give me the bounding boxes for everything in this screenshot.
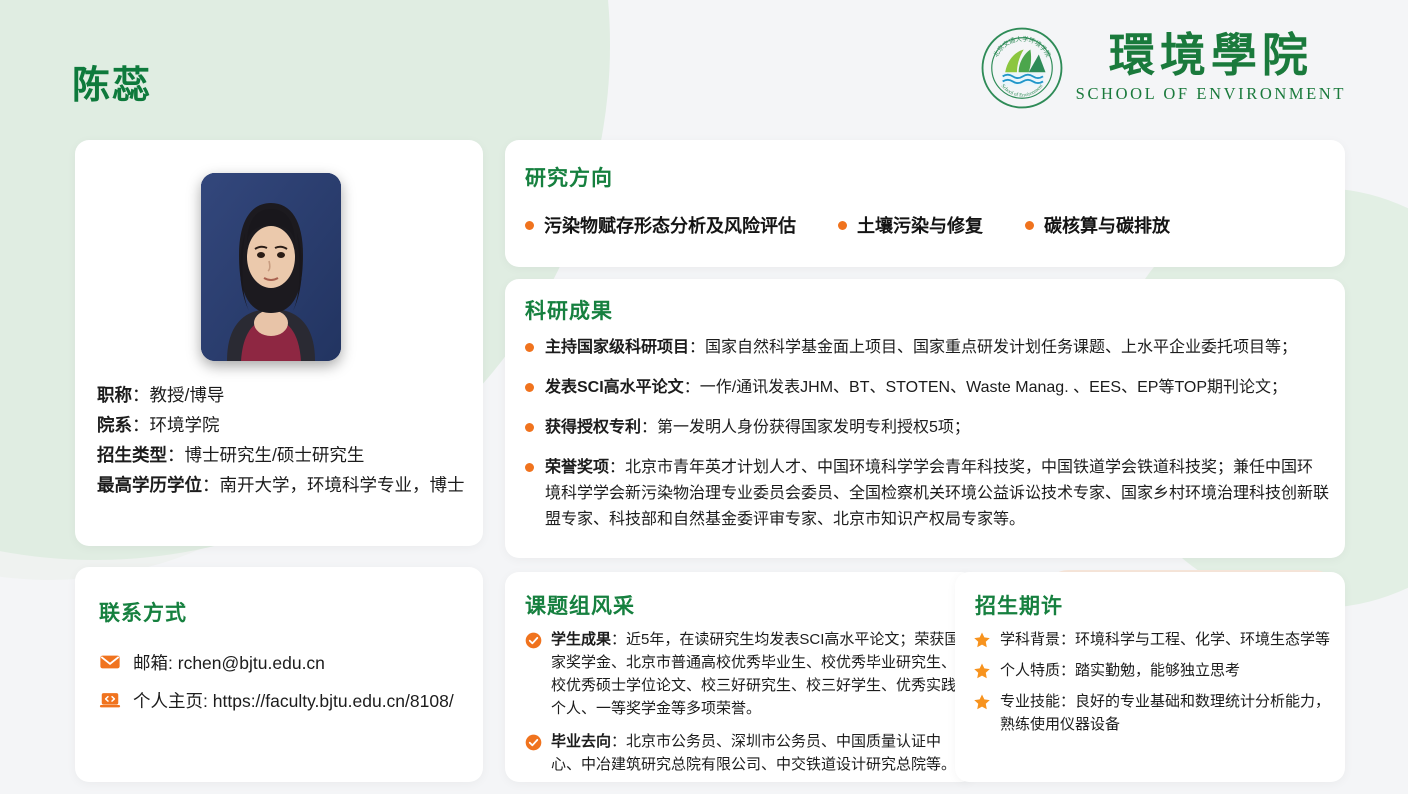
profile-field-admission-type: 招生类型：博士研究生/硕士研究生 xyxy=(97,440,469,470)
homepage-icon xyxy=(99,689,121,711)
profile-card: 职称：教授/博导 院系：环境学院 招生类型：博士研究生/硕士研究生 最高学历学位… xyxy=(75,140,483,546)
portrait-photo xyxy=(201,173,341,361)
contact-section-title: 联系方式 xyxy=(99,597,187,627)
star-icon xyxy=(973,662,991,680)
team-card: 课题组风采 学生成果：近5年，在读研究生均发表SCI高水平论文；荣获国家奖学金、… xyxy=(505,572,975,782)
admission-list: 学科背景：环境科学与工程、化学、环境生态学等 个人特质：踏实勤勉，能够独立思考 … xyxy=(973,628,1333,744)
achievement-text: 荣誉奖项：北京市青年英才计划人才、中国环境科学学会青年科技奖，中国铁道学会铁道科… xyxy=(545,455,1329,533)
homepage-text: 个人主页: https://faculty.bjtu.edu.cn/8108/ xyxy=(133,688,454,713)
achievement-item: 主持国家级科研项目：国家自然科学基金面上项目、国家重点研发计划任务课题、上水平企… xyxy=(525,335,1329,361)
research-direction-item: 污染物赋存形态分析及风险评估 xyxy=(525,212,796,238)
bullet-dot-icon xyxy=(525,221,534,230)
email-icon xyxy=(99,651,121,673)
page-title: 陈蕊 xyxy=(72,54,152,109)
admission-item: 个人特质：踏实勤勉，能够独立思考 xyxy=(973,659,1333,682)
research-directions-list: 污染物赋存形态分析及风险评估 土壤污染与修复 碳核算与碳排放 xyxy=(525,212,1212,238)
research-direction-label: 污染物赋存形态分析及风险评估 xyxy=(544,212,796,238)
logo-english-name: SCHOOL OF ENVIRONMENT xyxy=(1076,84,1346,104)
research-direction-label: 碳核算与碳排放 xyxy=(1044,212,1170,238)
achievement-text: 发表SCI高水平论文：一作/通讯发表JHM、BT、STOTEN、Waste Ma… xyxy=(545,375,1287,401)
logo-wordmark: 環境學院 SCHOOL OF ENVIRONMENT xyxy=(1076,32,1346,103)
logo-chinese-name: 環境學院 xyxy=(1109,32,1313,80)
profile-field-education: 最高学历学位：南开大学，环境科学专业，博士 xyxy=(97,470,469,500)
achievement-item: 获得授权专利：第一发明人身份获得国家发明专利授权5项； xyxy=(525,415,1329,441)
profile-field-department: 院系：环境学院 xyxy=(97,410,469,440)
profile-fields: 职称：教授/博导 院系：环境学院 招生类型：博士研究生/硕士研究生 最高学历学位… xyxy=(97,380,469,500)
school-logo: 北京交通大学环境学院 School of Environment 環境學院 SC… xyxy=(980,26,1346,110)
check-circle-icon xyxy=(525,734,542,751)
team-item-text: 毕业去向：北京市公务员、深圳市公务员、中国质量认证中心、中冶建筑研究总院有限公司… xyxy=(551,730,963,776)
research-direction-label: 土壤污染与修复 xyxy=(857,212,983,238)
school-seal-icon: 北京交通大学环境学院 School of Environment xyxy=(980,26,1064,110)
avatar xyxy=(201,173,341,361)
team-list: 学生成果：近5年，在读研究生均发表SCI高水平论文；荣获国家奖学金、北京市普通高… xyxy=(525,628,963,786)
star-icon xyxy=(973,631,991,649)
research-direction-item: 土壤污染与修复 xyxy=(838,212,983,238)
profile-field-title: 职称：教授/博导 xyxy=(97,380,469,410)
achievements-card: 科研成果 主持国家级科研项目：国家自然科学基金面上项目、国家重点研发计划任务课题… xyxy=(505,279,1345,558)
achievement-text: 获得授权专利：第一发明人身份获得国家发明专利授权5项； xyxy=(545,415,970,441)
contact-item-email[interactable]: 邮箱: rchen@bjtu.edu.cn xyxy=(99,643,473,681)
team-item-text: 学生成果：近5年，在读研究生均发表SCI高水平论文；荣获国家奖学金、北京市普通高… xyxy=(551,628,963,720)
admission-item: 专业技能：良好的专业基础和数理统计分析能力，熟练使用仪器设备 xyxy=(973,690,1333,736)
admission-item-text: 专业技能：良好的专业基础和数理统计分析能力，熟练使用仪器设备 xyxy=(1000,690,1333,736)
contact-list: 邮箱: rchen@bjtu.edu.cn 个人主页: https://facu… xyxy=(99,643,473,719)
email-text: 邮箱: rchen@bjtu.edu.cn xyxy=(133,650,325,675)
star-icon xyxy=(973,693,991,711)
research-directions-card: 研究方向 污染物赋存形态分析及风险评估 土壤污染与修复 碳核算与碳排放 xyxy=(505,140,1345,267)
team-item: 毕业去向：北京市公务员、深圳市公务员、中国质量认证中心、中冶建筑研究总院有限公司… xyxy=(525,730,963,776)
achievement-item: 荣誉奖项：北京市青年英才计划人才、中国环境科学学会青年科技奖，中国铁道学会铁道科… xyxy=(525,455,1329,533)
team-title: 课题组风采 xyxy=(525,590,635,620)
bullet-dot-icon xyxy=(525,383,534,392)
research-direction-item: 碳核算与碳排放 xyxy=(1025,212,1170,238)
bullet-dot-icon xyxy=(838,221,847,230)
contact-item-homepage[interactable]: 个人主页: https://faculty.bjtu.edu.cn/8108/ xyxy=(99,681,473,719)
contact-card: 联系方式 邮箱: rchen@bjtu.edu.cn 个人主页: https:/… xyxy=(75,567,483,782)
achievements-list: 主持国家级科研项目：国家自然科学基金面上项目、国家重点研发计划任务课题、上水平企… xyxy=(525,335,1329,533)
bullet-dot-icon xyxy=(525,423,534,432)
admission-item-text: 个人特质：踏实勤勉，能够独立思考 xyxy=(1000,659,1240,682)
bullet-dot-icon xyxy=(1025,221,1034,230)
page-header: 陈蕊 北京交通大学环境学院 School of Environment xyxy=(0,0,1408,132)
check-circle-icon xyxy=(525,632,542,649)
team-item: 学生成果：近5年，在读研究生均发表SCI高水平论文；荣获国家奖学金、北京市普通高… xyxy=(525,628,963,720)
achievement-item: 发表SCI高水平论文：一作/通讯发表JHM、BT、STOTEN、Waste Ma… xyxy=(525,375,1329,401)
achievements-title: 科研成果 xyxy=(525,295,613,325)
bullet-dot-icon xyxy=(525,463,534,472)
portrait-illustration xyxy=(201,173,341,361)
achievement-text: 主持国家级科研项目：国家自然科学基金面上项目、国家重点研发计划任务课题、上水平企… xyxy=(545,335,1297,361)
admission-item: 学科背景：环境科学与工程、化学、环境生态学等 xyxy=(973,628,1333,651)
admission-item-text: 学科背景：环境科学与工程、化学、环境生态学等 xyxy=(1000,628,1330,651)
research-directions-title: 研究方向 xyxy=(525,162,613,192)
bullet-dot-icon xyxy=(525,343,534,352)
admission-card: 招生期许 学科背景：环境科学与工程、化学、环境生态学等 个人特质：踏实勤勉，能够… xyxy=(955,572,1345,782)
faculty-profile-page: 陈蕊 北京交通大学环境学院 School of Environment xyxy=(0,0,1408,794)
admission-title: 招生期许 xyxy=(975,590,1063,620)
